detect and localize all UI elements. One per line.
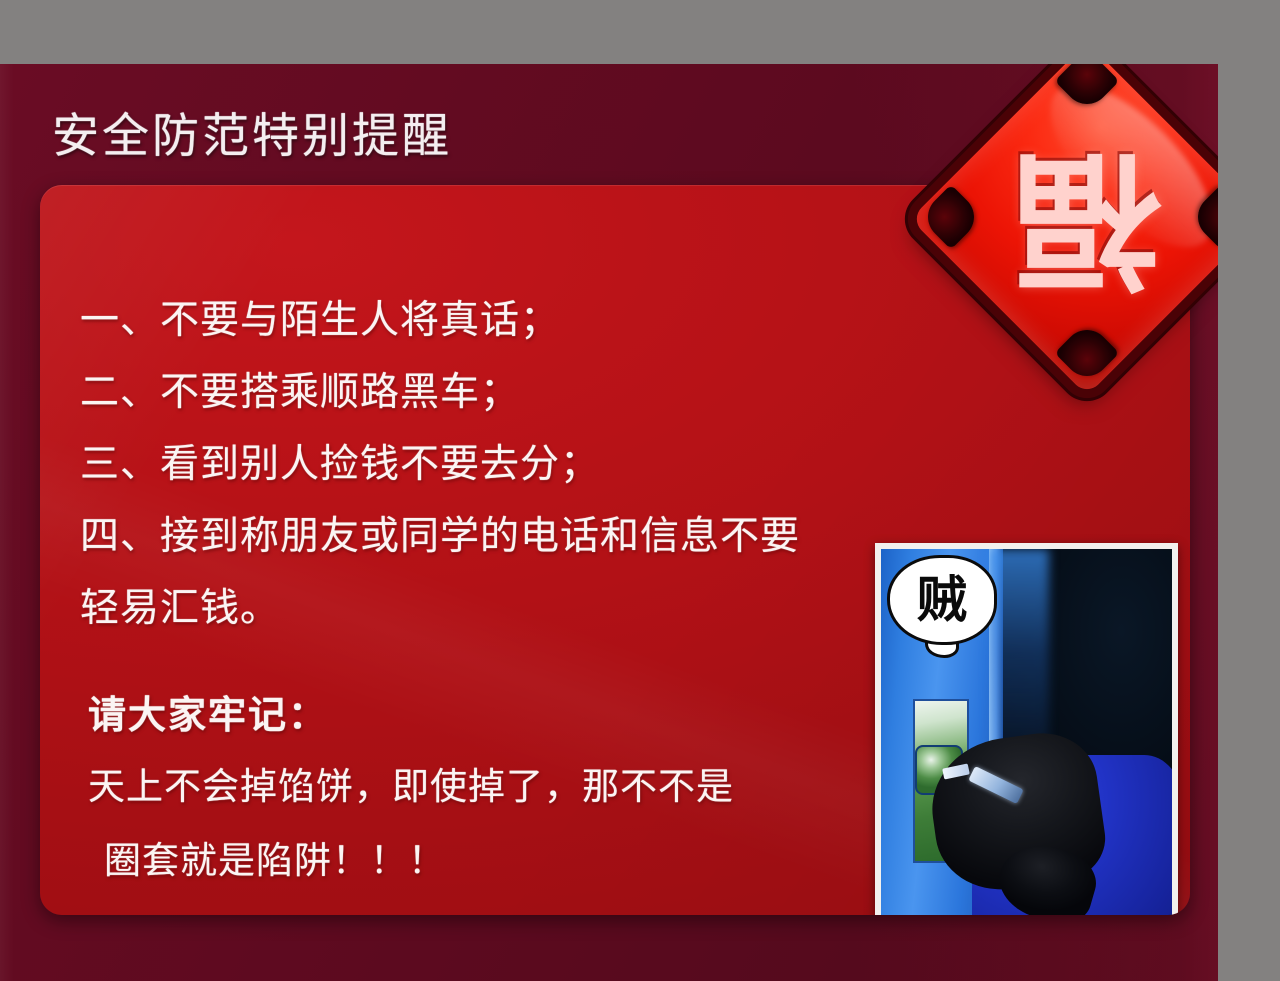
burglar-photo: 贼: [881, 549, 1172, 915]
advice-list: 一、不要与陌生人将真话； 二、不要搭乘顺路黑车； 三、看到别人捡钱不要去分； 四…: [80, 285, 880, 645]
page-title: 安全防范特别提醒: [52, 113, 452, 160]
screenshot-canvas: 安全防范特别提醒 一、不要与陌生人将真话； 二、不要搭乘顺路黑车； 三、看到别人…: [0, 0, 1280, 981]
list-item-continuation: 轻易汇钱。: [80, 573, 880, 645]
memo-block: 请大家牢记： 天上不会掉馅饼，即使掉了，那不不是 圈套就是陷阱！！！: [88, 680, 878, 898]
presentation-slide: 安全防范特别提醒 一、不要与陌生人将真话； 二、不要搭乘顺路黑车； 三、看到别人…: [0, 64, 1218, 981]
fu-corner-scroll-right: [1188, 184, 1218, 249]
memo-line: 圈套就是陷阱！！！: [88, 824, 878, 898]
memo-heading: 请大家牢记：: [88, 680, 878, 750]
list-item: 四、接到称朋友或同学的电话和信息不要: [80, 501, 880, 573]
list-item: 一、不要与陌生人将真话；: [80, 285, 880, 357]
fu-corner-scroll-top: [1054, 64, 1119, 114]
memo-line: 天上不会掉馅饼，即使掉了，那不不是: [88, 750, 878, 824]
speech-balloon-text: 贼: [917, 575, 967, 625]
content-panel: 一、不要与陌生人将真话； 二、不要搭乘顺路黑车； 三、看到别人捡钱不要去分； 四…: [40, 185, 1190, 915]
list-item: 三、看到别人捡钱不要去分；: [80, 429, 880, 501]
burglar-photo-frame: 贼: [875, 543, 1178, 915]
speech-balloon: 贼: [887, 555, 997, 645]
list-item: 二、不要搭乘顺路黑车；: [80, 357, 880, 429]
